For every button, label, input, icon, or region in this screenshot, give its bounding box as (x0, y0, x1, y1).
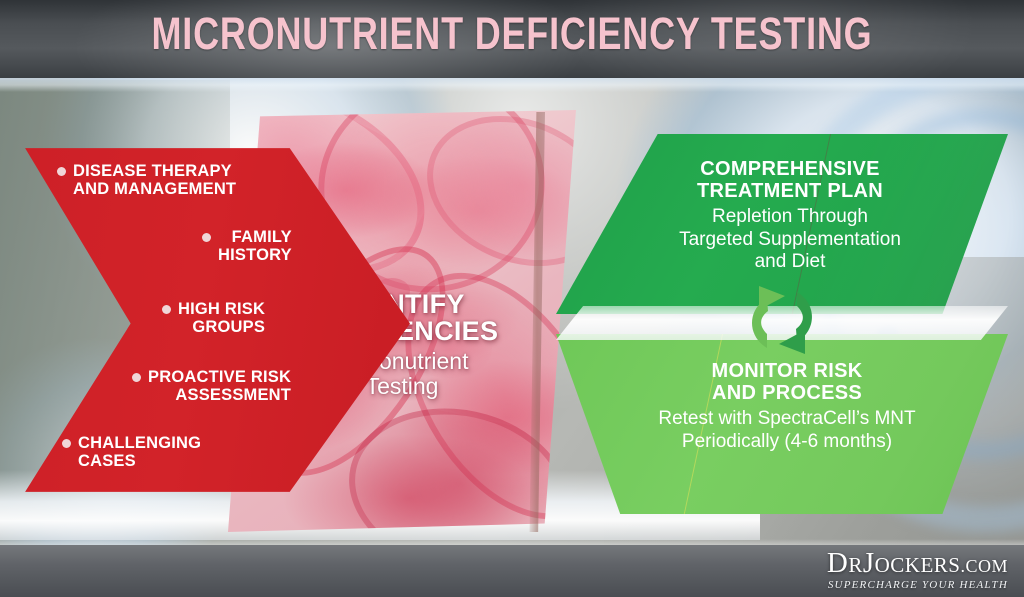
bullet-icon (62, 439, 71, 448)
brand-logo-text: DRJOCKERS.COM (827, 549, 1008, 578)
patient-indications-list: DISEASE THERAPY AND MANAGEMENT FAMILY HI… (22, 146, 410, 494)
infographic-canvas: IDENTIFY DEFICIENCIES Micronutrient Test… (0, 0, 1024, 597)
list-item-label: DISEASE THERAPY AND MANAGEMENT (73, 162, 236, 198)
logo-dotcom: .COM (960, 556, 1008, 576)
bullet-icon (202, 233, 211, 242)
refresh-cycle-icon (737, 272, 827, 368)
logo-letter-r: R (848, 553, 863, 577)
bullet-icon (57, 167, 66, 176)
logo-letters-ockers: OCKERS (875, 553, 961, 577)
brand-logo[interactable]: DRJOCKERS.COM SUPERCHARGE YOUR HEALTH (827, 549, 1008, 591)
list-item-label: PROACTIVE RISK ASSESSMENT (148, 368, 291, 404)
monitor-risk-body: Retest with SpectraCell’s MNT Periodical… (612, 408, 962, 454)
brand-tagline: SUPERCHARGE YOUR HEALTH (827, 579, 1008, 591)
header-edge-glow (0, 78, 1024, 92)
bullet-icon (132, 373, 141, 382)
treatment-plan-heading: COMPREHENSIVE TREATMENT PLAN (620, 158, 960, 203)
list-item-label: CHALLENGING CASES (78, 434, 201, 470)
footer-edge-highlight (0, 539, 1024, 545)
list-item-label: FAMILY HISTORY (218, 228, 292, 264)
comprehensive-treatment-plan-text: COMPREHENSIVE TREATMENT PLAN Repletion T… (620, 158, 960, 274)
page-title: MICRONUTRIENT DEFICIENCY TESTING (102, 8, 921, 60)
logo-letter-d: D (827, 547, 848, 579)
list-item: HIGH RISK GROUPS (162, 300, 265, 336)
list-item: FAMILY HISTORY (202, 228, 292, 264)
monitor-risk-and-process-text: MONITOR RISK AND PROCESS Retest with Spe… (612, 360, 962, 453)
list-item: DISEASE THERAPY AND MANAGEMENT (57, 162, 236, 198)
list-item: CHALLENGING CASES (62, 434, 201, 470)
bullet-icon (162, 305, 171, 314)
logo-letter-j: J (863, 547, 875, 579)
list-item-label: HIGH RISK GROUPS (178, 300, 265, 336)
list-item: PROACTIVE RISK ASSESSMENT (132, 368, 291, 404)
treatment-plan-body: Repletion Through Targeted Supplementati… (620, 206, 960, 274)
